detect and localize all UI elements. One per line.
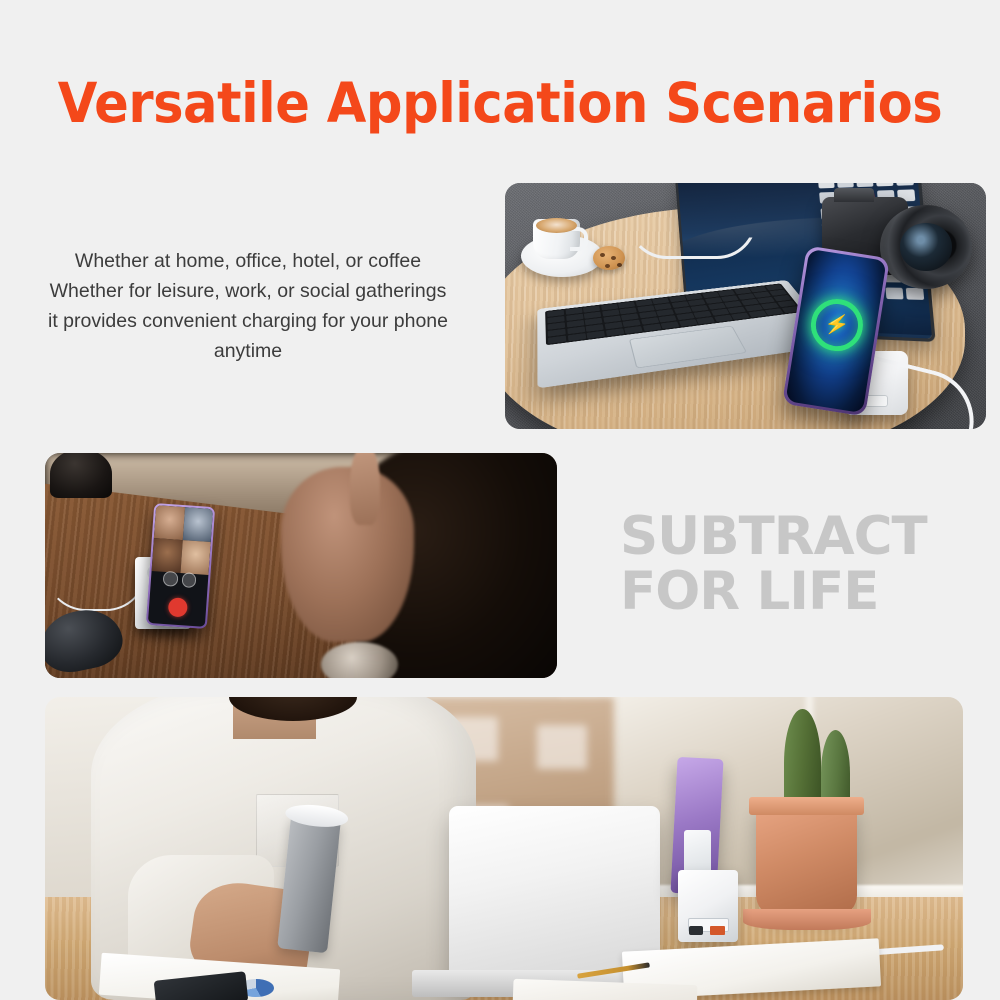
watermark-line-2: FOR LIFE bbox=[620, 564, 927, 619]
video-button bbox=[181, 572, 196, 587]
intro-line-1: Whether at home, office, hotel, or coffe… bbox=[8, 246, 488, 276]
participant-tiles bbox=[152, 505, 214, 575]
intro-line-3: it provides convenient charging for your… bbox=[8, 306, 488, 336]
product-infographic-page: Versatile Application Scenarios Whether … bbox=[0, 0, 1000, 1000]
latte-art bbox=[536, 218, 577, 233]
cookie bbox=[593, 246, 625, 270]
usb-a-port bbox=[710, 926, 726, 935]
hand bbox=[281, 467, 414, 643]
charging-cable-left bbox=[627, 219, 757, 259]
participant-tile bbox=[182, 507, 213, 542]
pot-saucer bbox=[743, 909, 872, 930]
coffee-scene: ⚡ bbox=[505, 183, 986, 429]
scenario-photo-coffee: ⚡ coffee bbox=[505, 183, 986, 429]
scenario-photo-homes: Homes bbox=[45, 453, 557, 678]
intro-line-2: Whether for leisure, work, or social gat… bbox=[8, 276, 488, 306]
smartphone bbox=[146, 503, 216, 628]
call-controls bbox=[155, 567, 205, 590]
offices-scene bbox=[45, 697, 963, 1000]
terracotta-pot bbox=[756, 806, 857, 915]
brand-watermark: SUBTRACT FOR LIFE bbox=[620, 509, 927, 619]
desk-lamp bbox=[50, 453, 111, 498]
pointing-finger bbox=[350, 453, 381, 525]
video-call-screen bbox=[148, 505, 213, 626]
usb-c-port bbox=[689, 926, 703, 935]
watermark-line-1: SUBTRACT bbox=[620, 509, 927, 564]
homes-scene bbox=[45, 453, 557, 678]
mute-button bbox=[163, 571, 178, 586]
page-title: Versatile Application Scenarios bbox=[35, 72, 965, 134]
intro-paragraph: Whether at home, office, hotel, or coffe… bbox=[8, 246, 488, 366]
camera-lens bbox=[880, 205, 972, 289]
end-call-button bbox=[167, 597, 188, 618]
participant-tile bbox=[154, 505, 185, 540]
intro-line-4: anytime bbox=[8, 336, 488, 366]
lightning-bolt-icon: ⚡ bbox=[823, 313, 851, 337]
charging-stand bbox=[678, 870, 738, 943]
scenario-photo-offices: Offices bbox=[45, 697, 963, 1000]
